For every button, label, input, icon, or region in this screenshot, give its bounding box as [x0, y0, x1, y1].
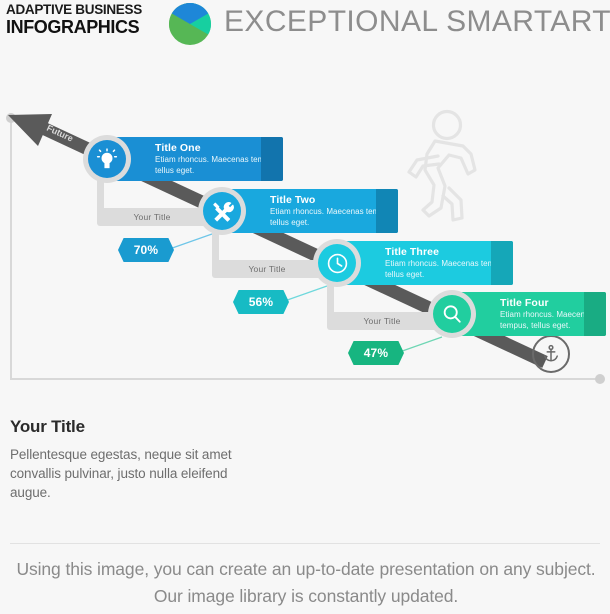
stage-node-2[interactable] — [198, 187, 246, 235]
infographic-page: ADAPTIVE BUSINESS INFOGRAPHICS EXCEPTION… — [0, 0, 610, 614]
magnifier-icon — [441, 303, 463, 325]
body-title: Your Title — [10, 417, 85, 437]
connector-label-3: Your Title — [363, 316, 400, 326]
brand-line-1: ADAPTIVE BUSINESS — [6, 2, 166, 17]
anchor-end-marker — [532, 335, 570, 373]
stage-bar-end-4 — [584, 292, 606, 336]
stage-percent-2: 56% — [233, 290, 289, 314]
lightbulb-icon — [96, 148, 118, 170]
stage-node-3[interactable] — [313, 239, 361, 287]
stage-bar-end-2 — [376, 189, 398, 233]
connector-label-1: Your Title — [133, 212, 170, 222]
body-text: Pellentesque egestas, neque sit amet con… — [10, 445, 260, 502]
anchor-icon — [541, 344, 561, 364]
stage-node-4[interactable] — [428, 290, 476, 338]
stage-percent-1: 70% — [118, 238, 174, 262]
brand-line-2: INFOGRAPHICS — [6, 17, 166, 37]
stage-bar-end-1 — [261, 137, 283, 181]
tri-segment-circle-logo — [168, 2, 212, 46]
tools-icon — [211, 200, 234, 223]
footer-divider — [10, 543, 600, 544]
page-headline: EXCEPTIONAL SMARTART — [224, 0, 610, 44]
stage-bar-end-3 — [491, 241, 513, 285]
brand-lockup: ADAPTIVE BUSINESS INFOGRAPHICS — [6, 2, 166, 37]
stage-percent-3: 47% — [348, 341, 404, 365]
page-header: ADAPTIVE BUSINESS INFOGRAPHICS EXCEPTION… — [0, 0, 610, 52]
connector-label-2: Your Title — [248, 264, 285, 274]
clock-icon — [326, 252, 349, 275]
stage-node-1[interactable] — [83, 135, 131, 183]
footer-caption: Using this image, you can create an up-t… — [6, 556, 606, 610]
